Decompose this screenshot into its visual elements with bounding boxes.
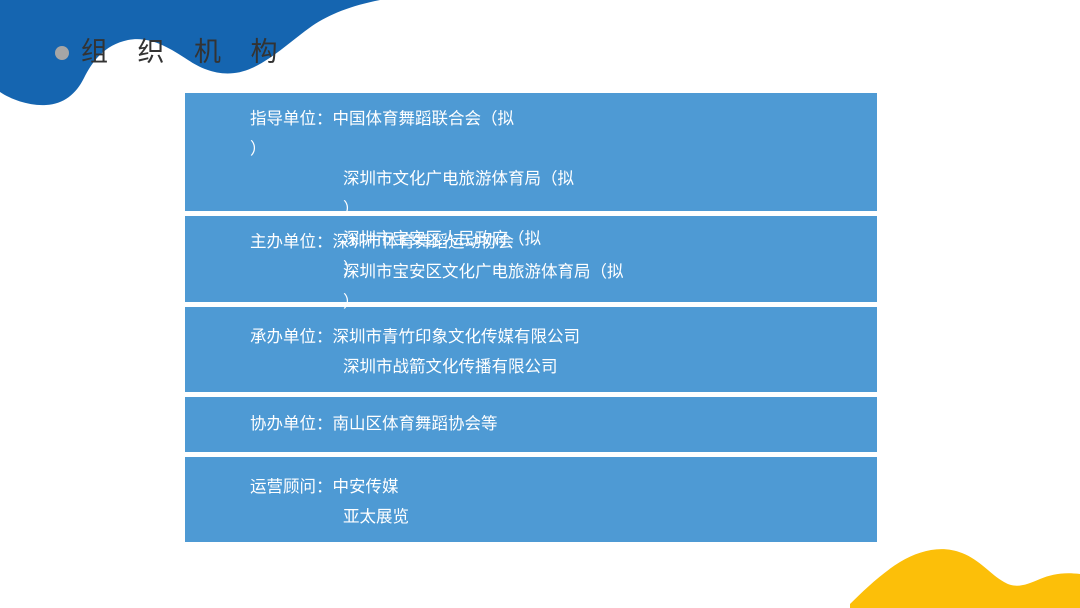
block-line: 主办单位：深圳市体育舞蹈运动协会 [250, 227, 859, 257]
page-title-text: 组 织 机 构 [81, 39, 289, 66]
slide-canvas: 组 织 机 构 指导单位：中国体育舞蹈联合会（拟 ） 深圳市文化广电旅游体育局（… [0, 0, 1080, 608]
bullet-circle-icon [55, 46, 69, 60]
page-title: 组 织 机 构 [55, 32, 289, 72]
block-line: 指导单位：中国体育舞蹈联合会（拟 [250, 104, 859, 134]
yellow-wave-shape-icon [850, 538, 1080, 608]
block-operations-advisors: 运营顾问：中安传媒 亚太展览 [185, 457, 877, 542]
block-line: ） [250, 134, 859, 164]
block-line: 深圳市战箭文化传播有限公司 [250, 352, 859, 382]
block-line: 协办单位：南山区体育舞蹈协会等 [250, 409, 859, 439]
block-line: 深圳市文化广电旅游体育局（拟 [250, 164, 859, 194]
block-guidance-units: 指导单位：中国体育舞蹈联合会（拟 ） 深圳市文化广电旅游体育局（拟 ） 深圳市宝… [185, 93, 877, 211]
block-co-organizer-units: 协办单位：南山区体育舞蹈协会等 [185, 397, 877, 452]
block-line: 承办单位：深圳市青竹印象文化传媒有限公司 [250, 322, 859, 352]
organization-blocks: 指导单位：中国体育舞蹈联合会（拟 ） 深圳市文化广电旅游体育局（拟 ） 深圳市宝… [185, 93, 877, 547]
block-organizer-units: 承办单位：深圳市青竹印象文化传媒有限公司 深圳市战箭文化传播有限公司 [185, 307, 877, 392]
block-line: 运营顾问：中安传媒 [250, 472, 859, 502]
block-line: 亚太展览 [250, 502, 859, 532]
block-line: 深圳市宝安区文化广电旅游体育局（拟 [250, 257, 859, 287]
